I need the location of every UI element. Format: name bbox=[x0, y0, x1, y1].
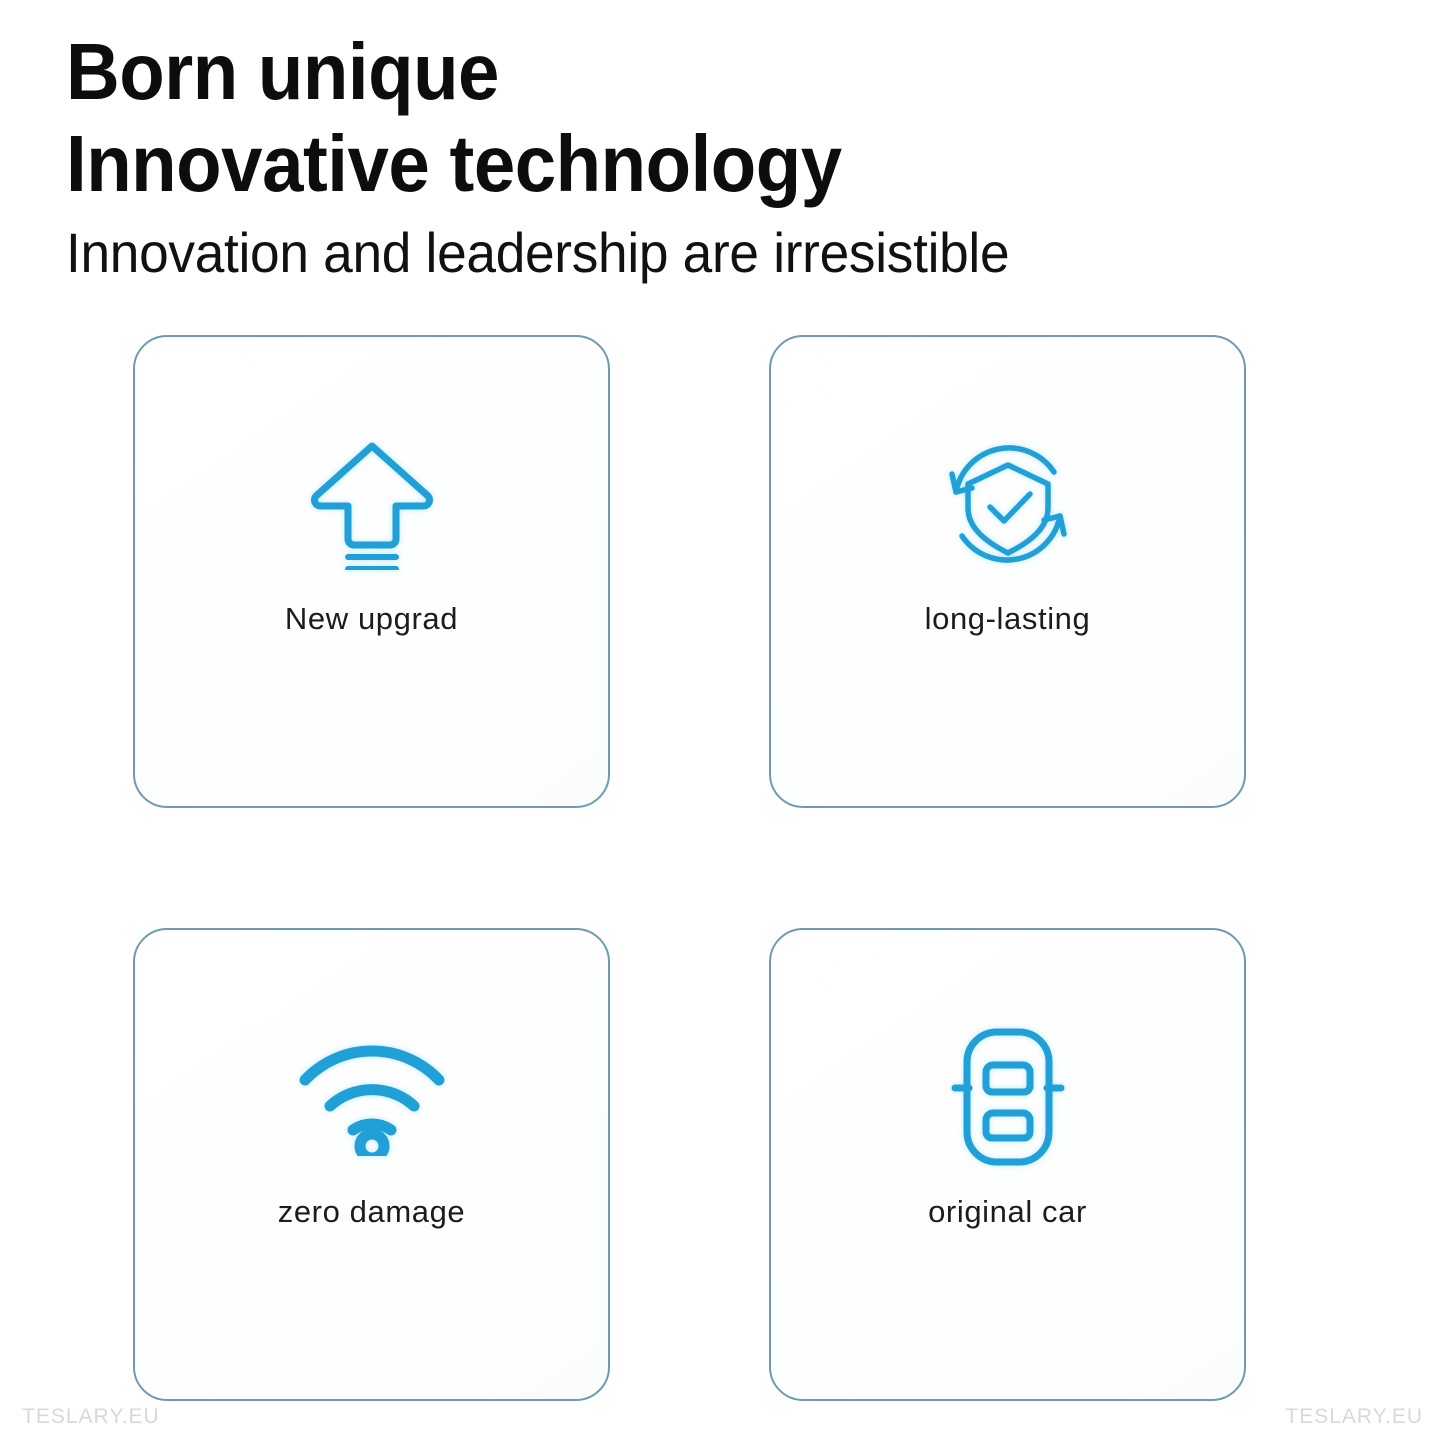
page-subtitle: Innovation and leadership are irresistib… bbox=[66, 222, 1320, 284]
feature-grid: New upgrad bbox=[133, 335, 1246, 1401]
feature-label: New upgrad bbox=[285, 601, 458, 637]
shield-check-cycle-icon bbox=[933, 429, 1083, 579]
page-title: Born uniqueInnovative technology bbox=[66, 26, 1294, 210]
feature-card-original-car[interactable]: original car bbox=[769, 928, 1246, 1401]
feature-card-long-lasting[interactable]: long-lasting bbox=[769, 335, 1246, 808]
car-top-view-icon bbox=[933, 1022, 1083, 1172]
watermark-left: TESLARY.EU bbox=[22, 1405, 160, 1429]
wifi-signal-icon bbox=[297, 1022, 447, 1172]
headline-line-2: Innovative technology bbox=[66, 118, 1294, 210]
feature-label: original car bbox=[928, 1194, 1087, 1230]
feature-label: zero damage bbox=[278, 1194, 466, 1230]
feature-card-new-upgrad[interactable]: New upgrad bbox=[133, 335, 610, 808]
header: Born uniqueInnovative technology Innovat… bbox=[66, 26, 1386, 284]
feature-card-zero-damage[interactable]: zero damage bbox=[133, 928, 610, 1401]
headline-line-1: Born unique bbox=[66, 27, 499, 116]
watermark-right: TESLARY.EU bbox=[1285, 1405, 1423, 1429]
feature-highlight-banner: Born uniqueInnovative technology Innovat… bbox=[0, 0, 1445, 1445]
feature-label: long-lasting bbox=[925, 601, 1091, 637]
upload-arrow-icon bbox=[297, 429, 447, 579]
